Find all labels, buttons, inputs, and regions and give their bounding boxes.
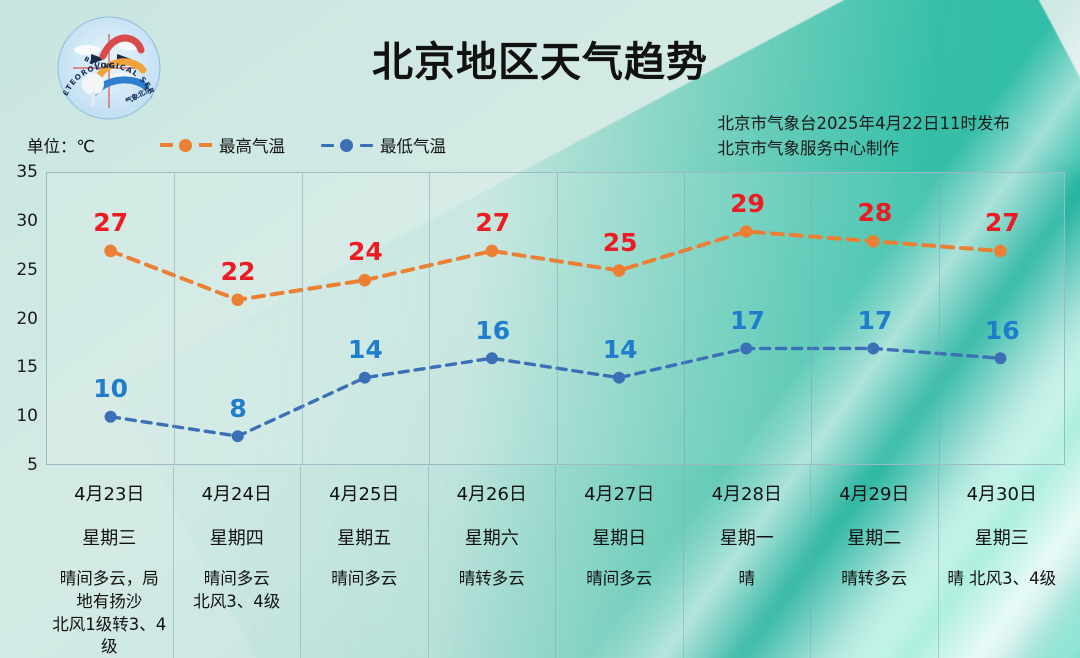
- chart-gridline: [302, 173, 303, 464]
- y-axis: 5101520253035: [0, 0, 46, 658]
- legend-marker-low-icon: [321, 138, 373, 152]
- data-label: 16: [985, 316, 1020, 345]
- weather-trend-poster: METEOROLOGICAL SERVICE BEIJING 气象北京 北京地区…: [0, 0, 1080, 658]
- forecast-table: 4月23日星期三晴间多云，局地有扬沙 北风1级转3、4级4月24日星期四晴间多云…: [46, 466, 1065, 658]
- forecast-weekday: 星期三: [52, 524, 167, 550]
- y-axis-tick: 20: [16, 309, 38, 329]
- data-label: 17: [730, 306, 765, 335]
- chart-gridline: [939, 173, 940, 464]
- forecast-description: 晴转多云: [817, 568, 932, 591]
- legend-item-high: 最高气温: [160, 133, 285, 157]
- forecast-description: 晴转多云: [435, 568, 550, 591]
- data-label: 14: [348, 335, 383, 364]
- data-label: 24: [348, 237, 383, 266]
- y-axis-tick: 30: [16, 211, 38, 231]
- forecast-date: 4月23日: [52, 480, 167, 506]
- chart-legend: 最高气温 最低气温: [160, 133, 446, 157]
- forecast-date: 4月27日: [562, 480, 677, 506]
- forecast-date: 4月24日: [180, 480, 295, 506]
- data-point: [104, 245, 117, 258]
- forecast-date: 4月30日: [945, 480, 1060, 506]
- data-label: 25: [603, 228, 638, 257]
- data-label: 22: [221, 257, 256, 286]
- legend-marker-high-icon: [160, 138, 212, 152]
- data-label: 28: [858, 198, 893, 227]
- forecast-column[interactable]: 4月27日星期日晴间多云: [556, 466, 684, 658]
- y-axis-tick: 35: [16, 162, 38, 182]
- y-axis-tick: 25: [16, 260, 38, 280]
- forecast-date: 4月28日: [690, 480, 805, 506]
- forecast-date: 4月29日: [817, 480, 932, 506]
- y-axis-tick: 10: [16, 406, 38, 426]
- data-point: [232, 430, 244, 442]
- data-label: 17: [858, 306, 893, 335]
- forecast-weekday: 星期六: [435, 524, 550, 550]
- forecast-description: 晴间多云，局地有扬沙 北风1级转3、4级: [52, 568, 167, 658]
- forecast-date: 4月26日: [435, 480, 550, 506]
- data-label: 16: [475, 316, 510, 345]
- forecast-column[interactable]: 4月26日星期六晴转多云: [429, 466, 557, 658]
- data-point: [486, 245, 499, 258]
- data-point: [105, 411, 117, 423]
- issuer-info: 北京市气象台2025年4月22日11时发布 北京市气象服务中心制作: [718, 112, 1010, 162]
- data-label: 29: [730, 189, 765, 218]
- data-label: 10: [93, 374, 128, 403]
- legend-item-low: 最低气温: [321, 133, 446, 157]
- page-title: 北京地区天气趋势: [0, 28, 1080, 88]
- forecast-description: 晴间多云: [562, 568, 677, 591]
- data-point: [867, 235, 880, 248]
- chart-series-svg: [47, 173, 1064, 465]
- data-point: [740, 342, 752, 354]
- forecast-weekday: 星期二: [817, 524, 932, 550]
- issuer-line-1: 北京市气象台2025年4月22日11时发布: [718, 112, 1010, 137]
- issuer-line-2: 北京市气象服务中心制作: [718, 137, 1010, 162]
- chart-gridline: [174, 173, 175, 464]
- forecast-weekday: 星期三: [945, 524, 1060, 550]
- data-label: 8: [229, 394, 246, 423]
- forecast-weekday: 星期四: [180, 524, 295, 550]
- forecast-column[interactable]: 4月30日星期三晴 北风3、4级: [939, 466, 1066, 658]
- data-point: [613, 264, 626, 277]
- data-point: [994, 352, 1006, 364]
- data-point: [740, 225, 753, 238]
- data-label: 27: [985, 208, 1020, 237]
- forecast-weekday: 星期五: [307, 524, 422, 550]
- chart-gridline: [684, 173, 685, 464]
- data-label: 27: [475, 208, 510, 237]
- data-label: 14: [603, 335, 638, 364]
- y-axis-tick: 15: [16, 357, 38, 377]
- forecast-weekday: 星期一: [690, 524, 805, 550]
- forecast-column[interactable]: 4月25日星期五晴间多云: [301, 466, 429, 658]
- data-point: [359, 372, 371, 384]
- data-point: [358, 274, 371, 287]
- y-axis-tick: 5: [27, 455, 38, 475]
- forecast-description: 晴间多云: [307, 568, 422, 591]
- forecast-column[interactable]: 4月24日星期四晴间多云 北风3、4级: [174, 466, 302, 658]
- forecast-description: 晴 北风3、4级: [945, 568, 1060, 591]
- series-line-undefined: [111, 348, 1001, 436]
- data-point: [613, 372, 625, 384]
- forecast-description: 晴间多云 北风3、4级: [180, 568, 295, 614]
- data-point: [486, 352, 498, 364]
- chart-gridline: [811, 173, 812, 464]
- chart-gridline: [429, 173, 430, 464]
- forecast-column[interactable]: 4月23日星期三晴间多云，局地有扬沙 北风1级转3、4级: [46, 466, 174, 658]
- data-point: [994, 245, 1007, 258]
- forecast-column[interactable]: 4月29日星期二晴转多云: [811, 466, 939, 658]
- forecast-date: 4月25日: [307, 480, 422, 506]
- chart-gridline: [557, 173, 558, 464]
- forecast-description: 晴: [690, 568, 805, 591]
- legend-label-high: 最高气温: [219, 133, 285, 157]
- forecast-column[interactable]: 4月28日星期一晴: [684, 466, 812, 658]
- forecast-weekday: 星期日: [562, 524, 677, 550]
- data-point: [231, 293, 244, 306]
- chart-plot-area: 2722242725292827108141614171716: [46, 172, 1065, 465]
- data-point: [867, 342, 879, 354]
- legend-label-low: 最低气温: [380, 133, 446, 157]
- data-label: 27: [93, 208, 128, 237]
